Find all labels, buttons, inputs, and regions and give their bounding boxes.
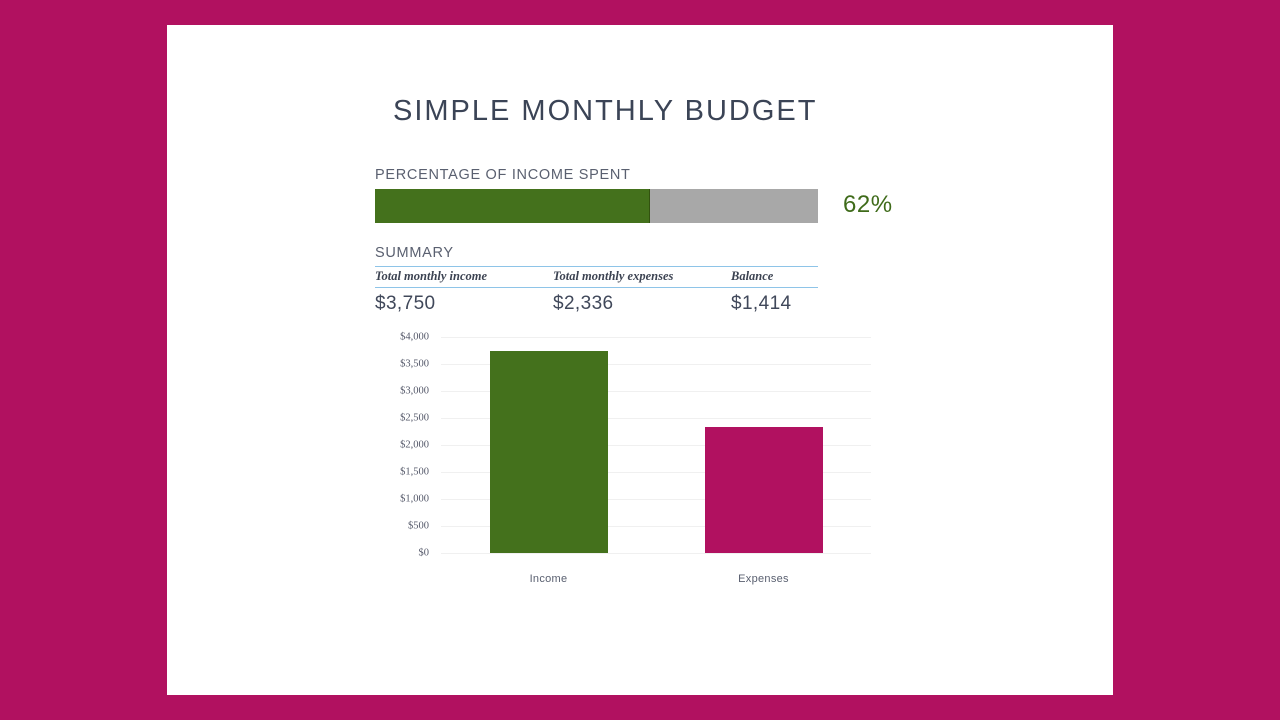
summary-header-expenses: Total monthly expenses bbox=[553, 267, 731, 288]
summary-header-row: Total monthly income Total monthly expen… bbox=[375, 267, 818, 288]
summary-value-balance: $1,414 bbox=[731, 288, 818, 316]
summary-value-row: $3,750 $2,336 $1,414 bbox=[375, 288, 818, 316]
percentage-progress-bar bbox=[375, 189, 818, 223]
slide-content: SIMPLE MONTHLY BUDGET PERCENTAGE OF INCO… bbox=[375, 95, 1075, 615]
summary-value-expenses: $2,336 bbox=[553, 288, 731, 316]
summary-section-label: SUMMARY bbox=[375, 245, 454, 261]
chart-y-axis-tick-label: $4,000 bbox=[359, 332, 429, 343]
chart-y-axis-tick-label: $3,500 bbox=[359, 359, 429, 370]
chart-x-axis-label-expenses: Expenses bbox=[704, 573, 824, 585]
budget-bar-chart: $0$500$1,000$1,500$2,000$2,500$3,000$3,5… bbox=[375, 323, 1075, 583]
slide-canvas: SIMPLE MONTHLY BUDGET PERCENTAGE OF INCO… bbox=[167, 25, 1113, 695]
summary-value-income: $3,750 bbox=[375, 288, 553, 316]
chart-gridline bbox=[441, 337, 871, 338]
chart-bar-expenses bbox=[705, 427, 823, 553]
chart-y-axis-tick-label: $1,000 bbox=[359, 494, 429, 505]
summary-header-income: Total monthly income bbox=[375, 267, 553, 288]
chart-y-axis-tick-label: $0 bbox=[359, 548, 429, 559]
chart-x-axis-label-income: Income bbox=[489, 573, 609, 585]
summary-header-balance: Balance bbox=[731, 267, 818, 288]
chart-plot-area: $0$500$1,000$1,500$2,000$2,500$3,000$3,5… bbox=[441, 337, 871, 553]
percentage-section-label: PERCENTAGE OF INCOME SPENT bbox=[375, 167, 631, 183]
chart-y-axis-tick-label: $1,500 bbox=[359, 467, 429, 478]
chart-y-axis-tick-label: $2,000 bbox=[359, 440, 429, 451]
chart-y-axis-tick-label: $500 bbox=[359, 521, 429, 532]
summary-table: Total monthly income Total monthly expen… bbox=[375, 266, 818, 315]
percentage-value-label: 62% bbox=[843, 191, 893, 219]
chart-bar-income bbox=[490, 351, 608, 554]
page-title: SIMPLE MONTHLY BUDGET bbox=[393, 95, 817, 128]
chart-gridline bbox=[441, 553, 871, 554]
chart-y-axis-tick-label: $3,000 bbox=[359, 386, 429, 397]
chart-y-axis-tick-label: $2,500 bbox=[359, 413, 429, 424]
percentage-progress-fill bbox=[375, 189, 650, 223]
